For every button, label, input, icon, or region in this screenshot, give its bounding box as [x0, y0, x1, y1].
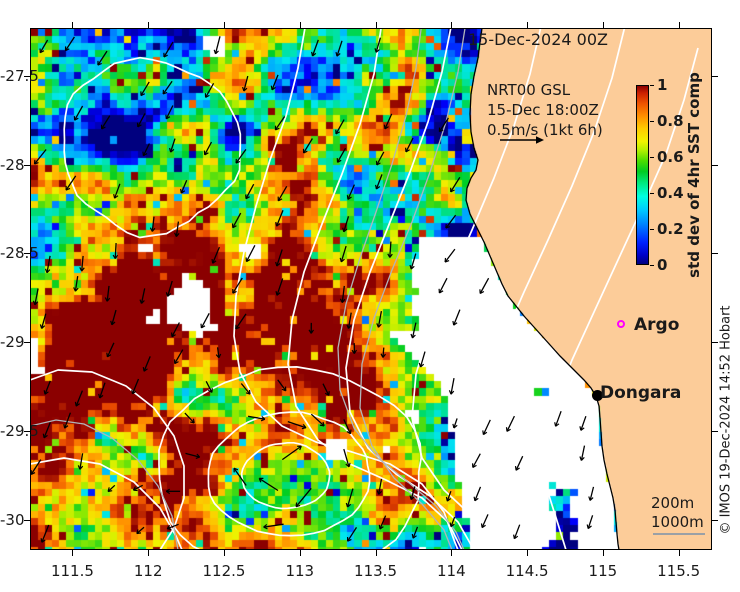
colorbar-tick-label: 1 — [657, 76, 667, 94]
y-axis-tick — [24, 520, 30, 521]
colorbar-tick — [650, 121, 654, 122]
x-axis-tick-top — [679, 22, 680, 28]
colorbar-tick-label: 0.8 — [657, 112, 684, 130]
colorbar-tick — [650, 157, 654, 158]
y-axis-tick-right — [712, 165, 718, 166]
dongara-label: Dongara — [600, 383, 681, 403]
x-axis-tick-top — [148, 22, 149, 28]
argo-label: Argo — [634, 315, 679, 335]
date-stamp-label: 15-Dec-2024 00Z — [468, 30, 608, 49]
x-axis-label: 111.5 — [51, 562, 94, 580]
bathy-200m-contour — [360, 28, 466, 550]
x-axis-tick — [300, 550, 301, 556]
y-axis-label: -28 — [0, 156, 22, 174]
x-axis-tick — [148, 550, 149, 556]
y-axis-label: -29.5 — [0, 422, 22, 440]
map-plot-area[interactable] — [30, 28, 712, 550]
x-axis-tick-top — [72, 22, 73, 28]
x-axis-tick-top — [300, 22, 301, 28]
ssh-contour — [288, 28, 462, 550]
bathy-1000m-label: 1000m — [651, 513, 704, 532]
colorbar-tick-label: 0.4 — [657, 184, 684, 202]
x-axis-tick-top — [451, 22, 452, 28]
x-axis-label: 112 — [134, 562, 163, 580]
x-axis-label: 112.5 — [203, 562, 246, 580]
x-axis-label: 114 — [437, 562, 466, 580]
eddy-contour-core — [242, 443, 330, 509]
x-axis-tick — [527, 550, 528, 556]
y-axis-label: -28.5 — [0, 244, 22, 262]
y-axis-label: -27.5 — [0, 67, 22, 85]
argo-marker-icon[interactable] — [617, 320, 625, 328]
x-axis-tick-top — [376, 22, 377, 28]
x-axis-tick-top — [224, 22, 225, 28]
x-axis-tick — [451, 550, 452, 556]
credit-label: © IMOS 19-Dec-2024 14:52 Hobart — [719, 305, 734, 534]
x-axis-tick — [603, 550, 604, 556]
colorbar-title: std dev of 4hr SST comp — [685, 72, 703, 278]
bathymetry-rule — [653, 533, 705, 535]
y-axis-tick-right — [712, 342, 718, 343]
eddy-contour-inner — [208, 412, 369, 535]
eddy-contour-outer — [159, 367, 421, 550]
y-axis-tick — [24, 342, 30, 343]
y-axis-label: -29 — [0, 333, 22, 351]
y-axis-tick — [24, 165, 30, 166]
colorbar-gradient — [636, 85, 649, 265]
y-axis-tick-right — [712, 431, 718, 432]
x-axis-tick — [72, 550, 73, 556]
bathy-contour — [30, 420, 178, 550]
x-axis-label: 114.5 — [506, 562, 549, 580]
gsl-source-label: NRT00 GSL — [487, 80, 603, 100]
x-axis-label: 113.5 — [354, 562, 397, 580]
y-axis-tick-right — [712, 76, 718, 77]
right-arrow-icon — [498, 133, 546, 147]
x-axis-tick — [224, 550, 225, 556]
x-axis-label: 115 — [589, 562, 618, 580]
x-axis-tick — [679, 550, 680, 556]
gsl-time-label: 15-Dec 18:00Z — [487, 100, 603, 120]
figure-root: 111.5112112.5113113.5114114.5115115.5-27… — [0, 0, 740, 592]
colorbar-tick-label: 0 — [657, 256, 667, 274]
y-axis-label: -30 — [0, 511, 22, 529]
colorbar-tick — [650, 229, 654, 230]
x-axis-tick-top — [527, 22, 528, 28]
colorbar-tick — [650, 85, 654, 86]
ssh-contour — [234, 28, 458, 550]
y-axis-tick-right — [712, 253, 718, 254]
x-axis-label: 115.5 — [657, 562, 700, 580]
x-axis-tick — [376, 550, 377, 556]
x-axis-label: 113 — [285, 562, 314, 580]
bathymetry-legend: 200m 1000m — [651, 494, 704, 532]
colorbar-tick — [650, 193, 654, 194]
ssh-contour — [64, 58, 240, 238]
bathy-200m-label: 200m — [651, 494, 704, 513]
x-axis-tick-top — [603, 22, 604, 28]
y-axis-tick-right — [712, 520, 718, 521]
map-overlays — [30, 28, 712, 550]
colorbar-tick-label: 0.6 — [657, 148, 684, 166]
colorbar-tick-label: 0.2 — [657, 220, 684, 238]
colorbar-tick — [650, 265, 654, 266]
gsl-legend-block: NRT00 GSL 15-Dec 18:00Z 0.5m/s (1kt 6h) — [487, 80, 603, 140]
